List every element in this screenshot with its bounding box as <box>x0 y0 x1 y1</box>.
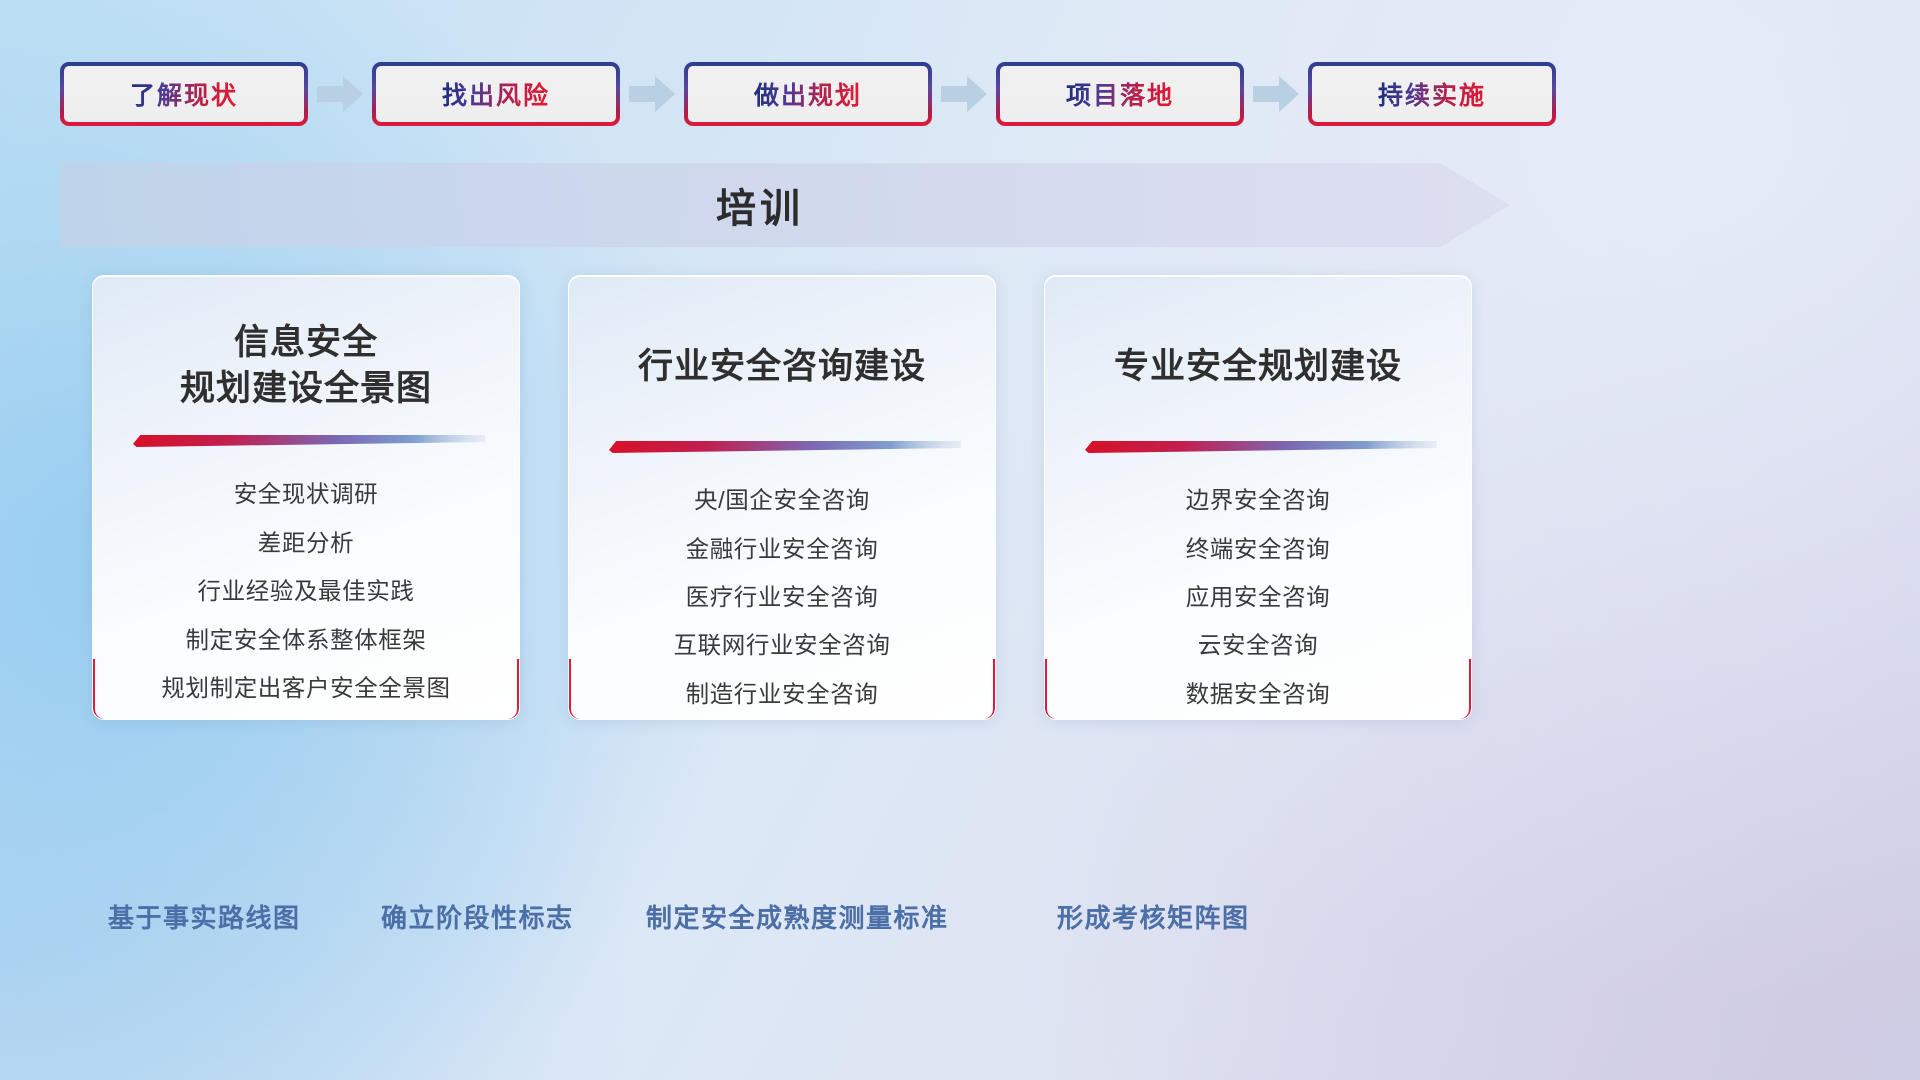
step-label: 做出规划 <box>754 76 862 112</box>
list-item: 医疗行业安全咨询 <box>686 577 879 617</box>
card-title-line1: 行业安全咨询建设 <box>595 344 969 390</box>
list-item: 云安全咨询 <box>1198 625 1319 665</box>
step-box-2[interactable]: 找出风险 <box>372 62 620 126</box>
card-title-line1: 专业安全规划建设 <box>1071 344 1445 390</box>
card-title: 专业安全规划建设 <box>1071 344 1445 390</box>
card-title-line1: 信息安全 <box>119 320 493 366</box>
list-item: 行业经验及最佳实践 <box>198 571 415 611</box>
step-box-1[interactable]: 了解现状 <box>60 62 308 126</box>
list-item: 制定安全体系整体框架 <box>186 620 427 660</box>
list-item: 应用安全咨询 <box>1186 577 1331 617</box>
card-group: 信息安全 规划建设全景图 <box>92 275 1472 720</box>
card-title: 行业安全咨询建设 <box>595 344 969 390</box>
list-item: 边界安全咨询 <box>1186 480 1331 520</box>
right-arrow-icon <box>629 76 675 112</box>
right-arrow-icon <box>941 76 987 112</box>
step-label: 持续实施 <box>1378 76 1486 112</box>
bottom-label: 制定安全成熟度测量标准 <box>646 898 949 935</box>
list-item: 数据安全咨询 <box>1186 674 1331 714</box>
process-step-flow: 了解现状 找出风险 做出规划 项目落地 持续实施 <box>60 62 1556 126</box>
bottom-label-row: 基于事实路线图 确立阶段性标志 制定安全成熟度测量标准 形成考核矩阵图 <box>0 898 1920 946</box>
red-blue-gradient-divider <box>133 434 485 448</box>
red-blue-gradient-divider <box>609 440 961 454</box>
list-item: 终端安全咨询 <box>1186 529 1331 569</box>
list-item: 规划制定出客户安全全景图 <box>161 668 450 708</box>
list-item: 金融行业安全咨询 <box>686 529 879 569</box>
list-item: 差距分析 <box>258 523 354 563</box>
step-box-5[interactable]: 持续实施 <box>1308 62 1556 126</box>
red-blue-gradient-divider <box>1085 440 1437 454</box>
card-industry-security-consulting[interactable]: 行业安全咨询建设 央/国 <box>568 275 996 720</box>
list-item: 互联网行业安全咨询 <box>674 625 891 665</box>
card-item-list: 安全现状调研 差距分析 行业经验及最佳实践 制定安全体系整体框架 规划制定出客户… <box>119 474 493 708</box>
card-title-line2: 规划建设全景图 <box>119 366 493 412</box>
training-banner: 培训 <box>60 163 1510 247</box>
list-item: 制造行业安全咨询 <box>686 674 879 714</box>
step-box-4[interactable]: 项目落地 <box>996 62 1244 126</box>
right-arrow-icon <box>1253 76 1299 112</box>
bottom-label: 确立阶段性标志 <box>381 898 574 935</box>
list-item: 安全现状调研 <box>234 474 379 514</box>
step-label: 找出风险 <box>442 76 550 112</box>
list-item: 央/国企安全咨询 <box>694 480 870 520</box>
card-title: 信息安全 规划建设全景图 <box>119 320 493 412</box>
card-item-list: 央/国企安全咨询 金融行业安全咨询 医疗行业安全咨询 互联网行业安全咨询 制造行… <box>595 480 969 714</box>
step-label: 了解现状 <box>130 76 238 112</box>
card-information-security-blueprint[interactable]: 信息安全 规划建设全景图 <box>92 275 520 720</box>
card-item-list: 边界安全咨询 终端安全咨询 应用安全咨询 云安全咨询 数据安全咨询 <box>1071 480 1445 714</box>
card-professional-security-planning[interactable]: 专业安全规划建设 边界安 <box>1044 275 1472 720</box>
banner-title: 培训 <box>60 163 1460 247</box>
bottom-label: 基于事实路线图 <box>108 898 301 935</box>
step-box-3[interactable]: 做出规划 <box>684 62 932 126</box>
step-label: 项目落地 <box>1066 76 1174 112</box>
bottom-label: 形成考核矩阵图 <box>1057 898 1250 935</box>
right-arrow-icon <box>317 76 363 112</box>
